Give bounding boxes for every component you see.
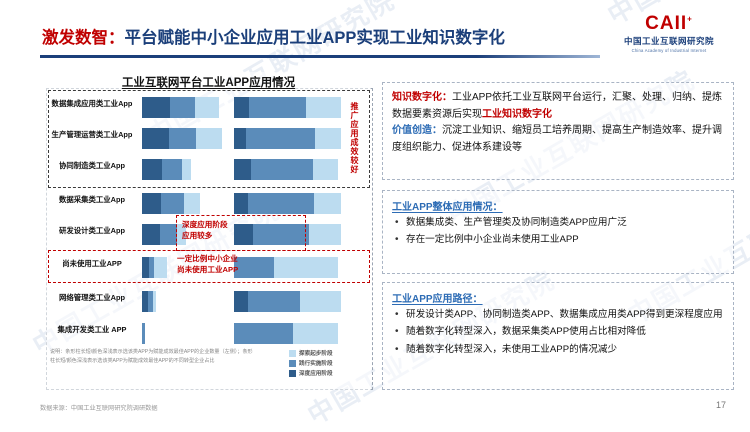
logo: CAII+ 中国工业互联网研究院 China Academy of Indust…	[604, 14, 734, 53]
value-body-text: 沉淀工业知识、缩短员工培养周期、提高生产制造效率、提升调度组织能力、促进体系建设…	[392, 125, 722, 153]
bar-segment-practice	[246, 128, 316, 149]
bar-segment-deep	[234, 291, 248, 312]
title-underline-rule	[40, 55, 600, 58]
bar-right-series	[234, 159, 338, 180]
bar-segment-deep	[234, 224, 253, 245]
bar-left-series	[142, 159, 191, 180]
chart-category-label: 集成开发类工业 APP	[46, 326, 138, 334]
bar-segment-deep	[142, 159, 162, 180]
chart-category-label: 生产管理运营类工业App	[46, 131, 138, 139]
legend-swatch-explore	[289, 350, 296, 357]
chart-category-label: 协同制造类工业App	[46, 162, 138, 170]
bar-segment-explore	[306, 97, 341, 118]
bar-segment-explore	[315, 128, 341, 149]
page-title-red: 激发数智：	[42, 29, 125, 47]
chart-title: 工业互联网平台工业APP应用情况	[46, 74, 371, 90]
panel-knowledge-text: 知识数字化：工业APP依托工业互联网平台运行，汇聚、处理、归纳、提炼数据要素资源…	[392, 90, 724, 123]
path-bullet: 研发设计类APP、协同制造类APP、数据集成应用类APP得到更深程度应用	[392, 308, 724, 322]
chart-category-label: 网络管理类工业App	[46, 294, 138, 302]
bar-segment-deep	[142, 97, 170, 118]
annotation-deep-use-text: 深度应用阶段应用较多	[182, 219, 228, 241]
bar-right-series	[234, 323, 338, 344]
chart-panel: 工业互联网平台工业APP应用情况 数据集成应用类工业App 生产管理运营类工业A…	[46, 72, 371, 390]
bar-right-series	[234, 193, 341, 214]
panel-application-path: 工业APP应用路径： 研发设计类APP、协同制造类APP、数据集成应用类APP得…	[382, 282, 734, 390]
bar-segment-explore	[314, 193, 341, 214]
knowledge-highlight: 工业知识数字化	[482, 109, 552, 120]
value-key-label: 价值创造	[392, 125, 432, 136]
chart-row: 数据集成应用类工业App	[46, 94, 371, 121]
knowledge-key-label: 知识数字化	[392, 92, 442, 103]
bar-segment-explore	[184, 193, 200, 214]
bar-segment-explore	[154, 257, 168, 278]
overall-bullet: 存在一定比例中小企业尚未使用工业APP	[392, 233, 724, 247]
bar-left-series	[142, 128, 222, 149]
chart-category-label: 研发设计类工业App	[46, 227, 138, 235]
data-source-note: 数据来源：中国工业互联网研究院调研数据	[40, 403, 158, 412]
bar-segment-deep	[142, 193, 161, 214]
bar-segment-practice	[253, 224, 309, 245]
page-number: 17	[716, 400, 726, 410]
bar-segment-practice	[162, 159, 182, 180]
panel-knowledge-digitalization: 知识数字化：工业APP依托工业互联网平台运行，汇聚、处理、归纳、提炼数据要素资源…	[382, 82, 734, 180]
bar-segment-deep	[234, 128, 246, 149]
bar-segment-practice	[160, 224, 177, 245]
bar-segment-explore	[313, 159, 338, 180]
path-bullet: 随着数字化转型深入，未使用工业APP的情况减少	[392, 343, 724, 357]
page-title: 激发数智：平台赋能中小企业应用工业APP实现工业知识数字化	[42, 24, 505, 48]
chart-row: 网络管理类工业App	[46, 288, 371, 315]
bar-segment-practice	[234, 323, 293, 344]
bar-segment-practice	[142, 323, 145, 344]
bar-right-series	[234, 257, 338, 278]
bar-segment-deep	[234, 97, 249, 118]
value-key-sep: ：	[432, 125, 442, 136]
legend-label: 探索起步阶段	[299, 349, 333, 357]
bar-segment-practice	[249, 97, 306, 118]
bar-segment-explore	[182, 159, 191, 180]
bar-segment-explore	[274, 257, 338, 278]
bar-left-series	[142, 193, 200, 214]
bar-right-series	[234, 291, 341, 312]
slide-header: 激发数智：平台赋能中小企业应用工业APP实现工业知识数字化 CAII+ 中国工业…	[0, 0, 750, 62]
bar-segment-practice	[248, 193, 314, 214]
legend-item: 探索起步阶段	[289, 349, 369, 357]
bar-segment-explore	[309, 224, 341, 245]
bar-segment-deep	[142, 128, 169, 149]
bar-segment-practice	[251, 159, 313, 180]
bar-segment-practice	[248, 291, 300, 312]
bar-left-series	[142, 257, 167, 278]
bar-left-series	[142, 97, 219, 118]
logo-chinese-name: 中国工业互联网研究院	[604, 35, 734, 47]
chart-legend: 探索起步阶段 践行实施阶段 深度应用阶段	[289, 349, 369, 380]
bar-segment-explore	[293, 323, 338, 344]
chart-row: 生产管理运营类工业App	[46, 125, 371, 152]
legend-swatch-practice	[289, 360, 296, 367]
legend-swatch-deep	[289, 370, 296, 377]
page-title-blue: 平台赋能中小企业应用工业APP实现工业知识数字化	[125, 29, 505, 47]
logo-english-name: China Academy of Industrial Internet	[604, 48, 734, 53]
panel-overall-usage: 工业APP整体应用情况： 数据集成类、生产管理类及协同制造类APP应用广泛 存在…	[382, 190, 734, 274]
annotation-not-used-text: 一定比例中小企业尚未使用工业APP	[177, 253, 238, 275]
logo-mark: CAII+	[604, 14, 734, 33]
bar-right-series	[234, 128, 341, 149]
bar-segment-deep	[142, 224, 160, 245]
bar-left-series	[142, 323, 145, 344]
path-heading: 工业APP应用路径：	[392, 290, 724, 305]
bar-segment-explore	[300, 291, 341, 312]
overall-bullet: 数据集成类、生产管理类及协同制造类APP应用广泛	[392, 216, 724, 230]
legend-item: 践行实施阶段	[289, 359, 369, 367]
logo-mark-text: CAII	[645, 13, 687, 34]
bar-segment-practice	[170, 97, 195, 118]
bar-segment-explore	[195, 97, 219, 118]
legend-label: 践行实施阶段	[299, 359, 333, 367]
bar-segment-explore	[153, 291, 156, 312]
chart-row: 数据采集类工业App	[46, 190, 371, 217]
bar-segment-deep	[234, 193, 248, 214]
chart-category-label: 尚未使用工业APP	[46, 260, 138, 268]
bar-left-series	[142, 224, 186, 245]
bar-right-series	[234, 224, 341, 245]
bar-segment-deep	[234, 159, 251, 180]
legend-item: 深度应用阶段	[289, 369, 369, 377]
annotation-promotion-vertical: 推广应用成效较好	[349, 102, 360, 174]
bar-segment-practice	[161, 193, 184, 214]
chart-row: 集成开发类工业 APP	[46, 320, 371, 347]
overall-heading: 工业APP整体应用情况：	[392, 198, 724, 213]
knowledge-key-sep: ：	[442, 92, 452, 103]
bar-segment-explore	[196, 128, 222, 149]
bar-left-series	[142, 291, 156, 312]
bar-right-series	[234, 97, 341, 118]
chart-category-label: 数据采集类工业App	[46, 196, 138, 204]
chart-footnote: 说明：条形柱长短/颜色深浅表示选该类APP为赋能成效最佳APP的企业数量（左侧）…	[50, 348, 255, 366]
chart-category-label: 数据集成应用类工业App	[46, 100, 138, 108]
bar-segment-practice	[169, 128, 195, 149]
chart-row: 协同制造类工业App	[46, 156, 371, 183]
legend-label: 深度应用阶段	[299, 369, 333, 377]
bar-segment-practice	[234, 257, 274, 278]
panel-value-creation-text: 价值创造：沉淀工业知识、缩短员工培养周期、提高生产制造效率、提升调度组织能力、促…	[392, 123, 724, 156]
chart-footnote-area: 说明：条形柱长短/颜色深浅表示选该类APP为赋能成效最佳APP的企业数量（左侧）…	[46, 348, 371, 390]
path-bullet: 随着数字化转型深入，数据采集类APP使用占比相对降低	[392, 325, 724, 339]
